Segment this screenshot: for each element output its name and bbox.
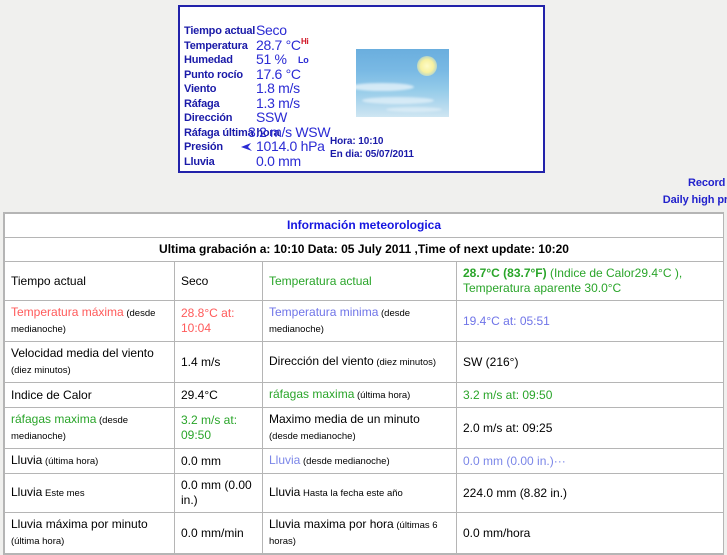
row-label-indice-de-calor: Indice de Calor — [5, 383, 175, 408]
row-value-velocidad-media-viento: 1.4 m/s — [175, 342, 263, 383]
row-value-maximo-media-minuto: 2.0 m/s at: 09:25 — [457, 408, 724, 449]
cell-main-text: 29.4°C — [181, 388, 218, 402]
ticker-area: Record high temperature : Daily high pre… — [0, 174, 727, 210]
row-label-temperatura-actual: Temperatura actual — [263, 262, 457, 301]
row-label-lluvia-max-minuto: Lluvia máxima por minuto (última hora) — [5, 513, 175, 554]
row-value-tiempo-actual: Seco — [175, 262, 263, 301]
row-value-lluvia-max-minuto: 0.0 mm/min — [175, 513, 263, 554]
row-label-tiempo-actual: Tiempo actual — [5, 262, 175, 301]
cell-main-text: 0.0 mm/min — [181, 526, 244, 540]
cell-sub-text: (última hora) — [354, 390, 410, 401]
row-label-direccion-viento: Dirección del viento (diez minutos) — [263, 342, 457, 383]
applet-value-humidity: 51 % — [256, 52, 287, 67]
applet-label-rain: Lluvia — [184, 155, 215, 170]
cell-main-text: Maximo media de un minuto — [269, 412, 420, 426]
cell-emphasis-text: 28.7°C (83.7°F) — [463, 266, 547, 280]
applet-label-pressure: Presión — [184, 140, 223, 155]
applet-value-rain: 0.0 mm — [256, 154, 301, 169]
cell-main-text: Tiempo actual — [11, 274, 86, 288]
table-row: Tiempo actual Seco Temperatura actual 28… — [5, 262, 724, 301]
cell-sub-text: (diez minutos) — [374, 357, 436, 368]
applet-value-temperature: 28.7 °C — [256, 38, 301, 53]
applet-value-gust-last-hour: 3.2 m/s WSW — [248, 125, 330, 140]
table-title-row: Información meteorologica — [5, 214, 724, 238]
applet-timestamp: Hora: 10:10 En dia: 05/07/2011 — [330, 135, 414, 161]
row-value-temperatura-minima: 19.4°C at: 05:51 — [457, 301, 724, 342]
table-row: Lluvia Este mes 0.0 mm (0.00 in.) Lluvia… — [5, 474, 724, 513]
last-update-status: Ultima grabación a: 10:10 Data: 05 July … — [5, 238, 724, 262]
row-value-lluvia-este-mes: 0.0 mm (0.00 in.) — [175, 474, 263, 513]
applet-label-dewpoint: Punto rocío — [184, 68, 243, 83]
applet-value-direction: SSW — [256, 110, 287, 125]
weather-information-table: Información meteorologica Ultima grabaci… — [3, 212, 724, 555]
cell-main-text: 2.0 m/s at: 09:25 — [463, 421, 552, 435]
applet-value-current-weather: Seco — [256, 23, 287, 38]
row-label-temperatura-minima: Temperatura minima (desde medianoche) — [263, 301, 457, 342]
row-label-temperatura-maxima: Temperatura máxima (desde medianoche) — [5, 301, 175, 342]
row-label-velocidad-media-viento: Velocidad media del viento (diez minutos… — [5, 342, 175, 383]
row-value-lluvia-max-hora: 0.0 mm/hora — [457, 513, 724, 554]
row-label-rafagas-maxima-medianoche: ráfagas maxima (desde medianoche) — [5, 408, 175, 449]
table-row: ráfagas maxima (desde medianoche) 3.2 m/… — [5, 408, 724, 449]
row-value-lluvia-medianoche: 0.0 mm (0.00 in.)··· — [457, 449, 724, 474]
applet-value-pressure: 1014.0 hPa — [256, 139, 325, 154]
table-row: Velocidad media del viento (diez minutos… — [5, 342, 724, 383]
cell-main-text: Temperatura máxima — [11, 305, 124, 319]
cell-main-text: Lluvia máxima por minuto — [11, 517, 148, 531]
row-label-lluvia-ultima-hora: Lluvia (última hora) — [5, 449, 175, 474]
table-row: Temperatura máxima (desde medianoche) 28… — [5, 301, 724, 342]
cell-main-text: 0.0 mm/hora — [463, 526, 530, 540]
row-value-temperatura-maxima: 28.8°C at: 10:04 — [175, 301, 263, 342]
applet-time-label: Hora: 10:10 — [330, 135, 414, 148]
cell-sub-text: (diez minutos) — [11, 365, 71, 376]
cell-sub-text: Hasta la fecha este año — [300, 488, 402, 499]
row-label-lluvia-max-hora: Lluvia maxima por hora (últimas 6 horas) — [263, 513, 457, 554]
row-label-maximo-media-minuto: Maximo media de un minuto (desde mediano… — [263, 408, 457, 449]
table-row: Lluvia máxima por minuto (última hora) 0… — [5, 513, 724, 554]
cell-main-text: 19.4°C at: 05:51 — [463, 314, 550, 328]
applet-date-label: En dia: 05/07/2011 — [330, 148, 414, 161]
applet-value-wind: 1.8 m/s — [256, 81, 300, 96]
cell-main-text: 0.0 mm — [181, 454, 221, 468]
cell-sub-text: (desde medianoche) — [269, 431, 356, 442]
applet-label-gust: Ráfaga — [184, 97, 219, 112]
table-subtitle-row: Ultima grabación a: 10:10 Data: 05 July … — [5, 238, 724, 262]
row-label-rafagas-maxima-hora: ráfagas maxima (última hora) — [263, 383, 457, 408]
applet-badge-hi: Hi — [301, 37, 308, 46]
row-value-temperatura-actual: 28.7°C (83.7°F) (Indice de Calor29.4°C )… — [457, 262, 724, 301]
table-row: Indice de Calor 29.4°C ráfagas maxima (ú… — [5, 383, 724, 408]
ticker-daily-high-pressure: Daily high pressure 1017.0 — [663, 194, 727, 206]
cell-main-text: 0.0 mm (0.00 in.) — [181, 478, 252, 507]
page-title: Información meteorologica — [5, 214, 724, 238]
cell-sub-text: (última hora) — [11, 536, 64, 547]
cell-main-text: 1.4 m/s — [181, 355, 220, 369]
cell-main-text: 3.2 m/s at: 09:50 — [181, 413, 237, 442]
cell-main-text: ráfagas maxima — [11, 412, 96, 426]
cell-main-text: Lluvia — [269, 485, 300, 499]
weather-applet-panel: Tiempo actual Seco Temperatura 28.7 °C H… — [178, 5, 545, 173]
cell-main-text: Temperatura minima — [269, 305, 378, 319]
cell-main-text: 3.2 m/s at: 09:50 — [463, 388, 552, 402]
cell-main-text: Temperatura actual — [269, 274, 372, 288]
row-value-lluvia-ultima-hora: 0.0 mm — [175, 449, 263, 474]
sunny-sky-photo-icon — [355, 48, 450, 118]
row-value-direccion-viento: SW (216°) — [457, 342, 724, 383]
cell-main-text: 28.8°C at: 10:04 — [181, 306, 235, 335]
row-value-lluvia-este-ano: 224.0 mm (8.82 in.) — [457, 474, 724, 513]
ticker-record-high-temperature: Record high temperature : — [688, 177, 727, 189]
cell-main-text: 0.0 mm (0.00 in.)··· — [463, 454, 566, 468]
applet-label-current-weather: Tiempo actual — [184, 24, 255, 39]
row-value-rafagas-maxima-medianoche: 3.2 m/s at: 09:50 — [175, 408, 263, 449]
applet-value-dewpoint: 17.6 °C — [256, 67, 301, 82]
applet-value-gust: 1.3 m/s — [256, 96, 300, 111]
cell-main-text: Lluvia — [11, 453, 42, 467]
row-value-rafagas-maxima-hora: 3.2 m/s at: 09:50 — [457, 383, 724, 408]
cell-sub-text: Este mes — [42, 488, 84, 499]
cell-main-text: Velocidad media del viento — [11, 346, 154, 360]
cell-main-text: Lluvia — [269, 453, 300, 467]
cell-main-text: Seco — [181, 274, 208, 288]
applet-label-humidity: Humedad — [184, 53, 233, 68]
cell-main-text: Lluvia — [11, 485, 42, 499]
cell-sub-text: (desde medianoche) — [300, 456, 389, 467]
cell-main-text: ráfagas maxima — [269, 387, 354, 401]
applet-label-temperature: Temperatura — [184, 39, 248, 54]
cell-sub-text: (última hora) — [42, 456, 98, 467]
row-value-indice-de-calor: 29.4°C — [175, 383, 263, 408]
applet-badge-lo: Lo — [298, 55, 308, 65]
row-label-lluvia-este-mes: Lluvia Este mes — [5, 474, 175, 513]
cell-main-text: Dirección del viento — [269, 354, 374, 368]
table-row: Lluvia (última hora) 0.0 mm Lluvia (desd… — [5, 449, 724, 474]
cell-main-text: SW (216°) — [463, 355, 518, 369]
cell-main-text: 224.0 mm (8.82 in.) — [463, 486, 567, 500]
row-label-lluvia-medianoche: Lluvia (desde medianoche) — [263, 449, 457, 474]
applet-label-wind: Viento — [184, 82, 216, 97]
applet-label-direction: Dirección — [184, 111, 232, 126]
row-label-lluvia-este-ano: Lluvia Hasta la fecha este año — [263, 474, 457, 513]
cell-main-text: Lluvia maxima por hora — [269, 517, 394, 531]
cell-main-text: Indice de Calor — [11, 388, 92, 402]
